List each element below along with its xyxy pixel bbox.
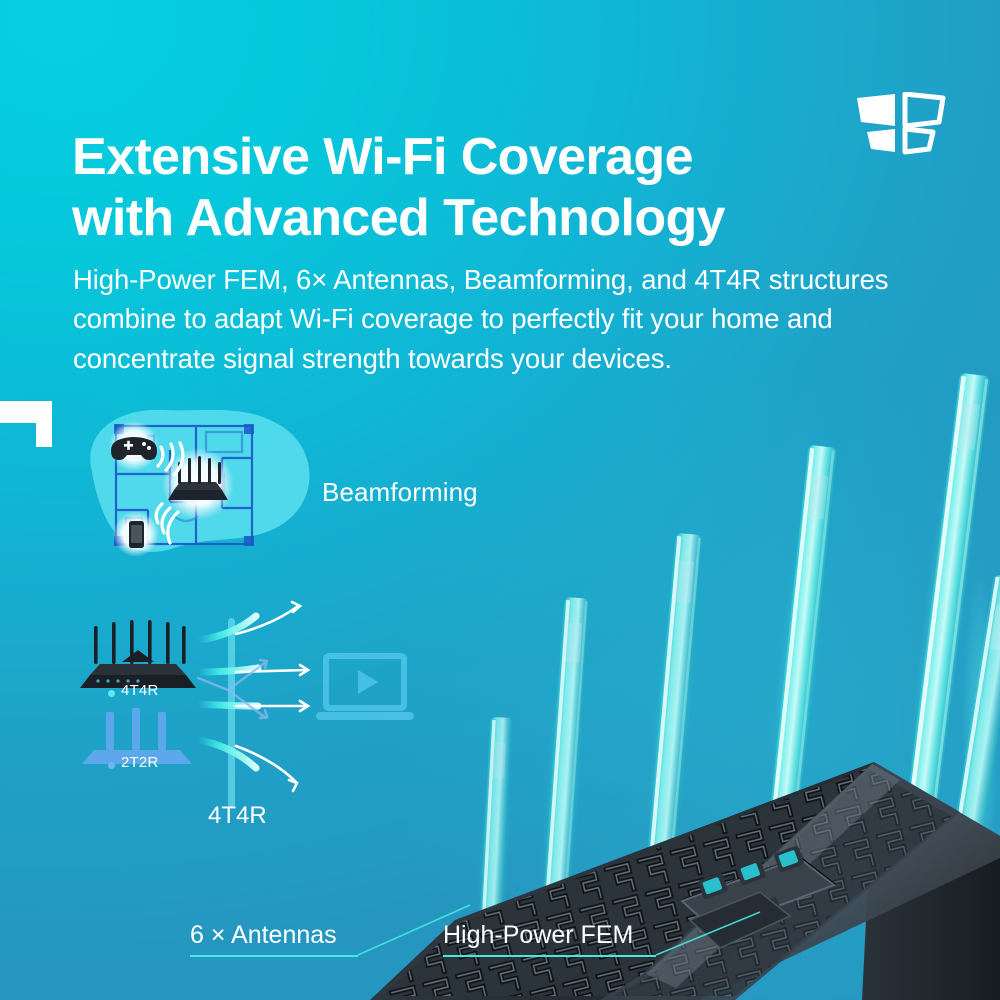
headline-line-1: Extensive Wi-Fi Coverage (72, 128, 693, 186)
marketing-banner: Extensive Wi-Fi Coverage with Advanced T… (0, 0, 1000, 1000)
page-title: Extensive Wi-Fi Coverage with Advanced T… (72, 127, 862, 250)
router-4t4r-icon (80, 620, 196, 688)
corner-bracket-icon (0, 397, 62, 451)
headline-line-2: with Advanced Technology (72, 188, 862, 249)
label-2t2r: 2T2R (121, 754, 158, 771)
callout-fem: High-Power FEM (443, 921, 633, 950)
dot-4t4r (108, 690, 115, 697)
subcopy-text: High-Power FEM, 6× Antennas, Beamforming… (73, 260, 911, 380)
beamforming-illustration (70, 398, 330, 578)
callout-fem-underline (443, 955, 656, 957)
callout-antennas: 6 × Antennas (190, 921, 337, 950)
mimo-caption: 4T4R (208, 802, 267, 830)
label-4t4r: 4T4R (121, 682, 158, 699)
callout-antennas-underline (190, 955, 358, 957)
dot-2t2r (108, 762, 115, 769)
smartphone-icon (129, 521, 144, 548)
beamforming-label: Beamforming (322, 477, 478, 508)
tp-link-logo-icon (855, 92, 947, 158)
divider-bar (228, 618, 235, 808)
laptop-video-icon (316, 656, 414, 720)
router-body (370, 762, 1000, 1000)
